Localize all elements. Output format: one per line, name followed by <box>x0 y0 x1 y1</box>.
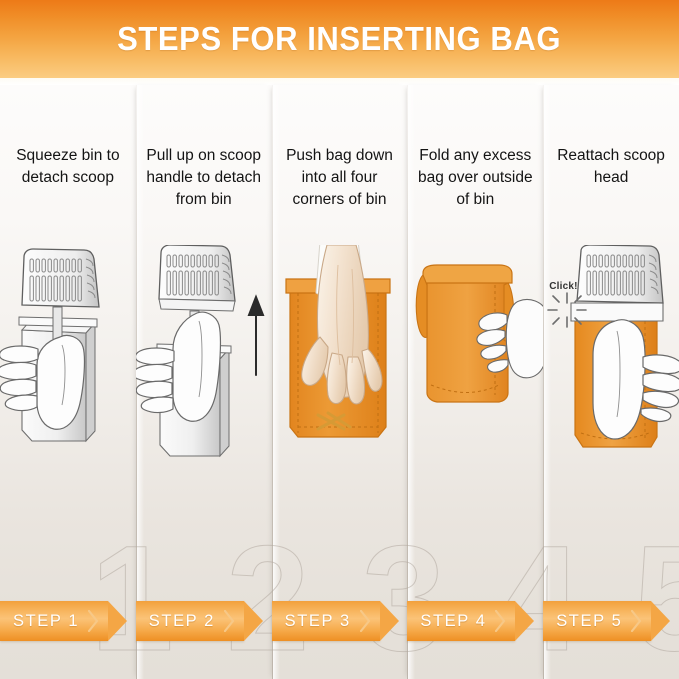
step-illustration-2 <box>136 245 272 505</box>
step-illustration-5: Click! <box>543 245 679 505</box>
step-panel-2: Pull up on scoop handle to detach from b… <box>136 85 272 679</box>
banner-arrow <box>380 601 399 641</box>
step-banner-3[interactable]: STEP 3 <box>272 601 403 641</box>
page-title: STEPS FOR INSERTING BAG <box>118 20 562 58</box>
step-panel-5: Reattach scoop head <box>543 85 679 679</box>
header-band: STEPS FOR INSERTING BAG <box>0 0 679 78</box>
step-caption-4: Fold any excess bag over outside of bin <box>411 145 539 211</box>
header-fade <box>0 78 679 85</box>
step-label-4: STEP 4 <box>407 612 486 631</box>
step-panel-1: Squeeze bin to detach scoop <box>0 85 136 679</box>
banner-arrow <box>515 601 534 641</box>
chevron-right-icon <box>360 610 371 632</box>
step-caption-1: Squeeze bin to detach scoop <box>4 145 132 189</box>
step-label-5: STEP 5 <box>543 612 622 631</box>
step-illustration-1 <box>0 245 136 505</box>
chevron-right-icon <box>495 610 506 632</box>
step-label-2: STEP 2 <box>136 612 215 631</box>
click-annotation: Click! <box>549 281 577 292</box>
step-caption-3: Push bag down into all four corners of b… <box>276 145 404 211</box>
steps-container: Squeeze bin to detach scoop <box>0 85 679 679</box>
step-illustration-4 <box>407 245 543 505</box>
chevron-right-icon <box>224 610 235 632</box>
banner-arrow <box>108 601 127 641</box>
step-panel-4: Fold any excess bag over outside of bin <box>407 85 543 679</box>
chevron-right-icon <box>88 610 99 632</box>
step-panel-3: Push bag down into all four corners of b… <box>272 85 408 679</box>
banner-arrow <box>651 601 670 641</box>
step-banner-5[interactable]: STEP 5 <box>543 601 674 641</box>
infographic-root: STEPS FOR INSERTING BAG Squeeze bin to d… <box>0 0 679 679</box>
banner-arrow <box>244 601 263 641</box>
step-banner-2[interactable]: STEP 2 <box>136 601 267 641</box>
step-illustration-3 <box>272 245 408 505</box>
step-banner-4[interactable]: STEP 4 <box>407 601 538 641</box>
step-caption-5: Reattach scoop head <box>547 145 675 189</box>
step-label-1: STEP 1 <box>0 612 79 631</box>
ghost-number-5: 5 <box>634 523 679 673</box>
chevron-right-icon <box>631 610 642 632</box>
step-label-3: STEP 3 <box>272 612 351 631</box>
step-banner-1[interactable]: STEP 1 <box>0 601 131 641</box>
step-caption-2: Pull up on scoop handle to detach from b… <box>140 145 268 211</box>
